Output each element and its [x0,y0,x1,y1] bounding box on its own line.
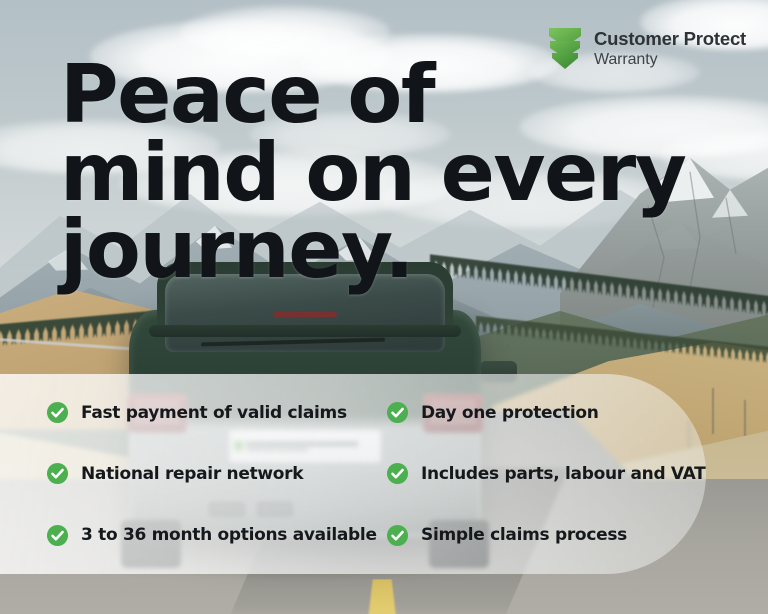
utility-pole [712,388,714,434]
headline-line-2: mind on every [60,134,720,212]
check-circle-icon [46,401,69,424]
feature-item: National repair network [46,462,386,485]
high-level-brake-light [273,312,337,317]
headline-line-3: journey. [60,211,720,289]
feature-item: Fast payment of valid claims [46,401,386,424]
brand-title: Customer Protect [594,30,746,49]
feature-label: Includes parts, labour and VAT [421,464,705,484]
feature-label: Day one protection [421,403,599,423]
check-circle-icon [386,401,409,424]
hero-headline: Peace of mind on every journey. [60,56,720,289]
headline-line-1: Peace of [60,56,720,134]
features-list: Fast payment of valid claims Day one pro… [0,374,706,574]
feature-item: Includes parts, labour and VAT [386,462,706,485]
feature-label: National repair network [81,464,303,484]
marketing-banner: Customer Protect Warranty Peace of mind … [0,0,768,614]
feature-label: Simple claims process [421,525,627,545]
feature-item: Simple claims process [386,524,706,547]
check-circle-icon [46,462,69,485]
utility-pole [744,400,746,440]
feature-item: 3 to 36 month options available [46,524,386,547]
check-circle-icon [386,524,409,547]
check-circle-icon [46,524,69,547]
feature-item: Day one protection [386,401,706,424]
rear-spoiler [149,325,461,337]
feature-label: 3 to 36 month options available [81,525,377,545]
feature-label: Fast payment of valid claims [81,403,347,423]
check-circle-icon [386,462,409,485]
